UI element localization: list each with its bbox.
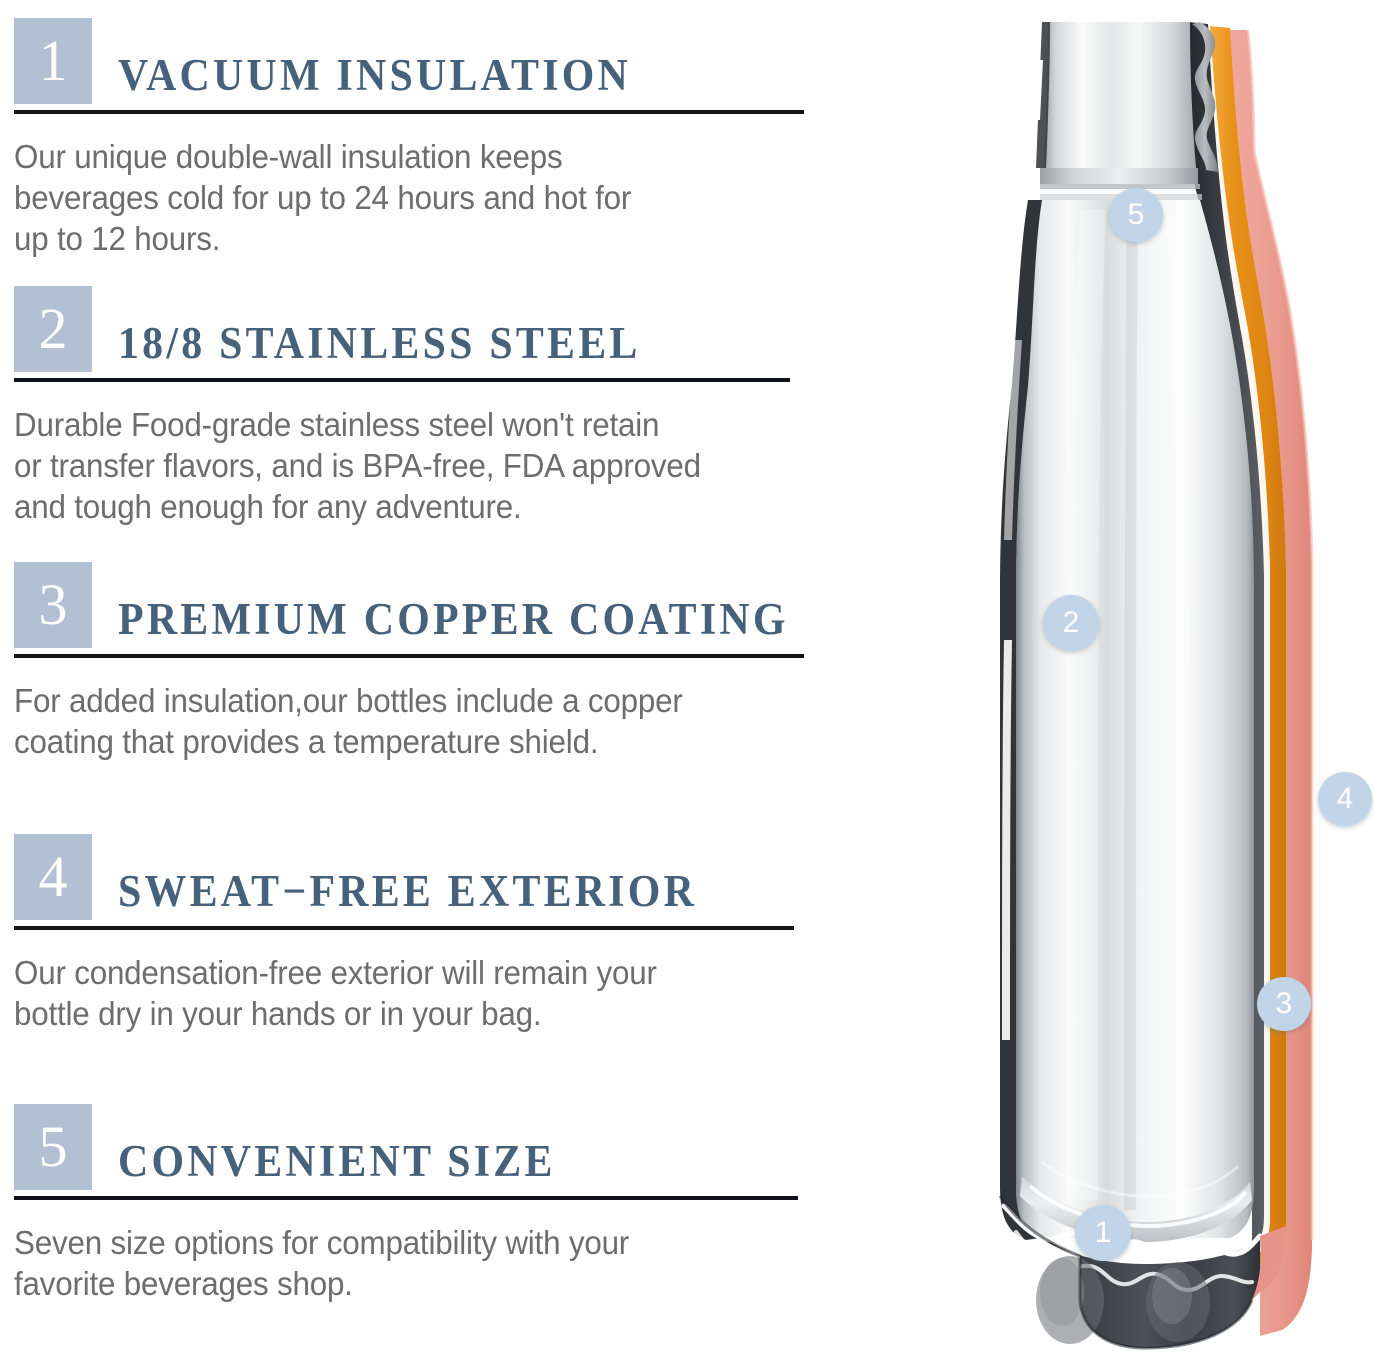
feature-item-2: 2 18/8 STAINLESS STEEL Durable Food-grad… bbox=[14, 286, 860, 527]
callout-label: 2 bbox=[1043, 595, 1099, 651]
bottle-cutaway-illustration: 5 2 4 3 1 bbox=[930, 0, 1374, 1370]
feature-description: Durable Food-grade stainless steel won't… bbox=[14, 404, 818, 527]
feature-description: Our unique double-wall insulation keeps … bbox=[14, 136, 818, 259]
feature-header: 4 SWEAT−FREE EXTERIOR bbox=[14, 834, 860, 920]
feature-divider bbox=[14, 110, 804, 114]
callout-badge-1[interactable]: 1 bbox=[1075, 1205, 1131, 1261]
feature-divider bbox=[14, 654, 804, 658]
feature-header: 2 18/8 STAINLESS STEEL bbox=[14, 286, 860, 372]
feature-description: Our condensation-free exterior will rema… bbox=[14, 952, 818, 1034]
feature-item-1: 1 VACUUM INSULATION Our unique double-wa… bbox=[14, 18, 860, 259]
feature-number-badge: 5 bbox=[14, 1104, 92, 1190]
feature-list: 1 VACUUM INSULATION Our unique double-wa… bbox=[0, 0, 880, 1370]
feature-divider bbox=[14, 378, 790, 382]
feature-title: VACUUM INSULATION bbox=[118, 50, 631, 104]
feature-description: For added insulation,our bottles include… bbox=[14, 680, 818, 762]
feature-divider bbox=[14, 926, 794, 930]
feature-item-3: 3 PREMIUM COPPER COATING For added insul… bbox=[14, 562, 860, 762]
callout-label: 4 bbox=[1318, 772, 1372, 826]
feature-description: Seven size options for compatibility wit… bbox=[14, 1222, 818, 1304]
feature-item-4: 4 SWEAT−FREE EXTERIOR Our condensation-f… bbox=[14, 834, 860, 1034]
feature-number-badge: 1 bbox=[14, 18, 92, 104]
feature-title: 18/8 STAINLESS STEEL bbox=[118, 318, 641, 372]
feature-item-5: 5 CONVENIENT SIZE Seven size options for… bbox=[14, 1104, 860, 1304]
bottle-neck bbox=[1044, 22, 1196, 168]
callout-badge-2[interactable]: 2 bbox=[1043, 595, 1099, 651]
feature-title: PREMIUM COPPER COATING bbox=[118, 594, 789, 648]
feature-number-badge: 3 bbox=[14, 562, 92, 648]
callout-label: 3 bbox=[1257, 977, 1311, 1031]
feature-divider bbox=[14, 1196, 798, 1200]
feature-number-badge: 2 bbox=[14, 286, 92, 372]
callout-badge-3[interactable]: 3 bbox=[1257, 977, 1311, 1031]
neck-collar-band bbox=[1040, 168, 1198, 184]
feature-header: 3 PREMIUM COPPER COATING bbox=[14, 562, 860, 648]
feature-title: SWEAT−FREE EXTERIOR bbox=[118, 866, 697, 920]
callout-badge-5[interactable]: 5 bbox=[1109, 188, 1163, 242]
callout-badge-4[interactable]: 4 bbox=[1318, 772, 1372, 826]
feature-header: 5 CONVENIENT SIZE bbox=[14, 1104, 860, 1190]
feature-title: CONVENIENT SIZE bbox=[118, 1136, 556, 1190]
callout-label: 1 bbox=[1075, 1205, 1131, 1261]
callout-label: 5 bbox=[1109, 188, 1163, 242]
feature-header: 1 VACUUM INSULATION bbox=[14, 18, 860, 104]
feature-number-badge: 4 bbox=[14, 834, 92, 920]
